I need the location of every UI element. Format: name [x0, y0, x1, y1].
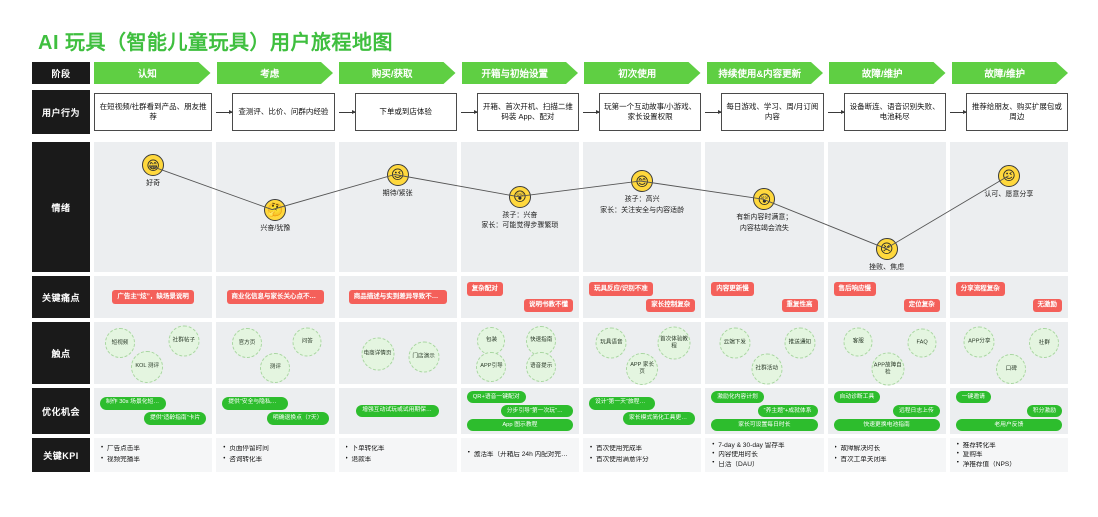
behavior-cell: 开箱、首次开机、扫描二维码装 App、配对: [461, 90, 579, 134]
kpi-item-4-1: 首次使用满意评分: [590, 456, 694, 465]
emotion-face-icon-2[interactable]: 😉: [387, 164, 409, 186]
stage-cell: 开箱与初始设置: [462, 62, 579, 84]
kpi-item-5-2: 日活（DAU）: [712, 461, 816, 468]
behavior-arrow-icon: [828, 112, 844, 113]
behavior-cell: 每日游戏、学习、周/月订阅内容: [705, 90, 823, 134]
kpi-item-1-0: 页面停留时间: [223, 445, 327, 454]
opportunity-pill-2-0[interactable]: 增强互动试玩或试用期保证退: [356, 405, 439, 418]
opportunity-pill-1-0[interactable]: 提供“安全与隐私说明”: [222, 397, 288, 410]
behavior-arrow-icon: [216, 112, 232, 113]
kpi-item-1-1: 咨询转化率: [223, 456, 327, 465]
behavior-row: 用户行为 在短视频/社群看到产品、朋友推荐查测评、比价、问群内经验下单或到店体验…: [32, 90, 1068, 134]
kpi-cell: 广告点击率视频完播率: [94, 438, 212, 472]
touchpoint-bubble-6-0[interactable]: 客服: [844, 327, 873, 356]
pain-chip-6-1[interactable]: 定位复杂: [904, 299, 940, 313]
opportunity-pill-5-1[interactable]: “养主题”+成就体系: [758, 405, 818, 417]
opportunity-pill-6-1[interactable]: 远程日志上传: [893, 405, 940, 417]
kpi-item-2-1: 退款率: [346, 456, 450, 465]
pain-cell: 玩具反应/识别不准家长控制复杂: [583, 276, 701, 318]
touchpoint-bubble-0-1[interactable]: KOL 测评: [131, 351, 163, 383]
pain-chip-5-1[interactable]: 重复性高: [782, 299, 818, 313]
touchpoint-row: 触点 短视频KOL 测评社群帖子官方页测评问答电商详情页门店演示包装快速指南AP…: [32, 322, 1068, 384]
behavior-box-3[interactable]: 开箱、首次开机、扫描二维码装 App、配对: [477, 93, 579, 131]
touchpoint-cell: APP分享口碑社群: [950, 322, 1068, 384]
pain-chip-5-0[interactable]: 内容更新慢: [711, 282, 754, 296]
emotion-label-7: 认可、愿意分享: [984, 190, 1033, 201]
kpi-item-5-1: 内容使用时长: [712, 451, 816, 458]
behavior-box-2[interactable]: 下单或到店体验: [355, 93, 457, 131]
touchpoint-bubble-7-0[interactable]: APP分享: [964, 326, 995, 357]
opportunity-pill-4-1[interactable]: 家长模式简化工具更易懂: [623, 412, 695, 425]
emotion-label-2: 期待/紧张: [383, 189, 413, 200]
page-title: AI 玩具（智能儿童玩具）用户旅程地图: [38, 26, 393, 55]
opportunity-cell: 自动诊断工具远程日志上传快速更换电池指南: [828, 388, 946, 434]
stage-chevron-0[interactable]: 认知: [94, 62, 211, 84]
emotion-cell: 😣挫败、焦虑: [828, 142, 946, 272]
behavior-box-4[interactable]: 玩第一个互动故事/小游戏、家长设置权限: [599, 93, 701, 131]
row-label-opportunity: 优化机会: [32, 388, 90, 434]
touchpoint-bubble-5-1[interactable]: 社群活动: [751, 354, 782, 385]
emotion-face-icon-3[interactable]: 😲: [509, 186, 531, 208]
emotion-label-0: 好奇: [146, 179, 160, 190]
touchpoint-cell: 云端下发社群活动推送通知: [705, 322, 823, 384]
row-label-stage: 阶段: [32, 62, 90, 84]
touchpoint-bubble-0-2[interactable]: 社群帖子: [168, 325, 199, 356]
touchpoint-bubble-0-0[interactable]: 短视频: [105, 328, 135, 358]
kpi-cell: 页面停留时间咨询转化率: [216, 438, 334, 472]
pain-chip-7-0[interactable]: 分享流程复杂: [956, 282, 1005, 296]
opportunity-cell: 制作 30s 场景化短视频（父母+孩子真实互动）提供“适龄指南”卡片: [94, 388, 212, 434]
stage-chevron-1[interactable]: 考虑: [217, 62, 334, 84]
kpi-cell: 推荐转化率复购率净推荐值（NPS）: [950, 438, 1068, 472]
behavior-cell: 查测评、比价、问群内经验: [216, 90, 334, 134]
stage-chevron-6[interactable]: 故障/维护: [829, 62, 946, 84]
touchpoint-bubble-5-2[interactable]: 推送通知: [784, 328, 815, 359]
behavior-box-5[interactable]: 每日游戏、学习、周/月订阅内容: [721, 93, 823, 131]
touchpoint-cells: 短视频KOL 测评社群帖子官方页测评问答电商详情页门店演示包装快速指南APP引导…: [90, 322, 1068, 384]
stage-cell: 故障/维护: [829, 62, 946, 84]
pain-cell: 分享流程复杂无激励: [950, 276, 1068, 318]
emotion-cell: 😊孩子：高兴家长：关注安全与内容适龄: [583, 142, 701, 272]
kpi-item-0-1: 视频完播率: [101, 456, 205, 465]
kpi-cell: 激活率（开箱后 24h 内配对完成比例）: [461, 438, 579, 472]
emotion-cell: 😁好奇: [94, 142, 212, 272]
opportunity-pill-7-2[interactable]: 老用户反馈: [956, 419, 1062, 431]
row-label-kpi: 关键KPI: [32, 438, 90, 472]
stage-cell: 持续使用&内容更新: [707, 62, 824, 84]
kpi-item-6-1: 首次工单关闭率: [835, 456, 939, 465]
row-label-emotion: 情绪: [32, 142, 90, 272]
opportunity-row: 优化机会 制作 30s 场景化短视频（父母+孩子真实互动）提供“适龄指南”卡片提…: [32, 388, 1068, 434]
kpi-row: 关键KPI 广告点击率视频完播率页面停留时间咨询转化率下单转化率退款率激活率（开…: [32, 438, 1068, 472]
pain-chip-6-0[interactable]: 售后响应慢: [834, 282, 877, 296]
emotion-label-1: 兴奋/犹豫: [260, 224, 290, 235]
touchpoint-bubble-4-2[interactable]: 首次体验教程: [658, 327, 691, 360]
touchpoint-bubble-7-2[interactable]: 社群: [1029, 328, 1059, 358]
behavior-arrow-icon: [339, 112, 355, 113]
emotion-label-5: 有新内容时满意；内容枯竭会流失: [736, 213, 792, 234]
opportunity-cell: 提供“安全与隐私说明”明确退换点（7天）: [216, 388, 334, 434]
opportunity-cell: 一键邀请积分激励老用户反馈: [950, 388, 1068, 434]
pain-row: 关键痛点 广告主“炫”，缺场景说明商业化信息与家长关心点不匹配商品描述与实到差异…: [32, 276, 1068, 318]
behavior-box-0[interactable]: 在短视频/社群看到产品、朋友推荐: [94, 93, 212, 131]
row-label-pain: 关键痛点: [32, 276, 90, 318]
emotion-cell: 😲有新内容时满意；内容枯竭会流失: [705, 142, 823, 272]
pain-chip-3-1[interactable]: 说明书教不懂: [524, 299, 573, 313]
pain-cell: 内容更新慢重复性高: [705, 276, 823, 318]
opportunity-pill-6-0[interactable]: 自动诊断工具: [834, 391, 881, 403]
opportunity-cells: 制作 30s 场景化短视频（父母+孩子真实互动）提供“适龄指南”卡片提供“安全与…: [90, 388, 1068, 434]
kpi-cell: 下单转化率退款率: [339, 438, 457, 472]
opportunity-cell: 增强互动试玩或试用期保证退: [339, 388, 457, 434]
opportunity-pill-0-1[interactable]: 提供“适龄指南”卡片: [144, 412, 206, 425]
touchpoint-cell: 短视频KOL 测评社群帖子: [94, 322, 212, 384]
pain-chip-3-0[interactable]: 复杂配对: [467, 282, 503, 296]
behavior-arrow-icon: [583, 112, 599, 113]
emotion-face-icon-4[interactable]: 😊: [631, 170, 653, 192]
opportunity-cell: 激励化内容计划“养主题”+成就体系家长可设置每日时长: [705, 388, 823, 434]
stage-cells: 认知考虑购买/获取开箱与初始设置初次使用持续使用&内容更新故障/维护故障/维护: [90, 62, 1068, 84]
behavior-cell: 下单或到店体验: [339, 90, 457, 134]
emotion-face-icon-5[interactable]: 😲: [753, 188, 775, 210]
touchpoint-bubble-1-2[interactable]: 问答: [293, 327, 322, 356]
touchpoint-bubble-4-1[interactable]: APP 家长页: [626, 353, 658, 385]
row-label-behavior: 用户行为: [32, 90, 90, 134]
pain-cell: 广告主“炫”，缺场景说明: [94, 276, 212, 318]
touchpoint-bubble-3-3[interactable]: 语音提示: [526, 352, 556, 382]
opportunity-pill-3-0[interactable]: QR+语音一键配对: [467, 391, 526, 403]
kpi-cell: 首次使用完成率首次使用满意评分: [583, 438, 701, 472]
touchpoint-bubble-3-2[interactable]: APP引导: [476, 352, 506, 382]
kpi-item-7-2: 净推荐值（NPS）: [957, 461, 1061, 468]
touchpoint-bubble-6-2[interactable]: FAQ: [908, 329, 937, 358]
touchpoint-bubble-6-1[interactable]: APP故障自检: [871, 353, 904, 386]
touchpoint-bubble-2-0[interactable]: 电商详情页: [361, 338, 394, 371]
behavior-cell: 设备断连、语音识别失败、电池耗尽: [828, 90, 946, 134]
emotion-face-icon-7[interactable]: 😉: [998, 165, 1020, 187]
emotion-cells: 😁好奇🤔兴奋/犹豫😉期待/紧张😲孩子：兴奋家长：可能觉得步骤繁琐😊孩子：高兴家长…: [90, 142, 1068, 272]
opportunity-pill-1-1[interactable]: 明确退换点（7天）: [267, 412, 329, 425]
emotion-face-icon-6[interactable]: 😣: [876, 238, 898, 260]
behavior-cell: 推荐给朋友、购买扩展包或周边: [950, 90, 1068, 134]
behavior-cell: 在短视频/社群看到产品、朋友推荐: [94, 90, 212, 134]
kpi-item-4-0: 首次使用完成率: [590, 445, 694, 454]
behavior-cells: 在短视频/社群看到产品、朋友推荐查测评、比价、问群内经验下单或到店体验开箱、首次…: [90, 90, 1068, 134]
opportunity-pill-3-2[interactable]: App 图示教程: [467, 419, 573, 431]
journey-grid: 阶段 认知考虑购买/获取开箱与初始设置初次使用持续使用&内容更新故障/维护故障/…: [32, 62, 1068, 476]
stage-chevron-5[interactable]: 持续使用&内容更新: [707, 62, 824, 84]
opportunity-pill-5-2[interactable]: 家长可设置每日时长: [711, 419, 817, 431]
pain-cell: 商业化信息与家长关心点不匹配: [216, 276, 334, 318]
opportunity-pill-0-0[interactable]: 制作 30s 场景化短视频（父母+孩子真实互动）: [100, 397, 166, 410]
touchpoint-bubble-7-1[interactable]: 口碑: [996, 354, 1026, 384]
journey-map-page: AI 玩具（智能儿童玩具）用户旅程地图 阶段 认知考虑购买/获取开箱与初始设置初…: [0, 0, 1098, 517]
stage-cell: 考虑: [217, 62, 334, 84]
emotion-cell: 😉认可、愿意分享: [950, 142, 1068, 272]
behavior-cell: 玩第一个互动故事/小游戏、家长设置权限: [583, 90, 701, 134]
touchpoint-bubble-3-0[interactable]: 包装: [477, 327, 505, 355]
stage-cell: 认知: [94, 62, 211, 84]
stage-chevron-4[interactable]: 初次使用: [584, 62, 701, 84]
emotion-label-4: 孩子：高兴家长：关注安全与内容适龄: [600, 195, 684, 216]
pain-cell: 售后响应慢定位复杂: [828, 276, 946, 318]
kpi-cell: 7-day & 30-day 留存率内容使用时长日活（DAU）: [705, 438, 823, 472]
opportunity-cell: QR+语音一键配对分步引导“第一次玩”流程App 图示教程: [461, 388, 579, 434]
touchpoint-bubble-1-0[interactable]: 官方页: [232, 328, 262, 358]
stage-chevron-2[interactable]: 购买/获取: [339, 62, 456, 84]
touchpoint-cell: 官方页测评问答: [216, 322, 334, 384]
opportunity-pill-7-1[interactable]: 积分激励: [1027, 405, 1062, 417]
opportunity-pill-4-0[interactable]: 设计“第一天”旅程：玩、学习、成长单: [589, 397, 655, 410]
touchpoint-cell: 包装快速指南APP引导语音提示: [461, 322, 579, 384]
pain-chip-0-0[interactable]: 广告主“炫”，缺场景说明: [112, 290, 194, 304]
behavior-box-6[interactable]: 设备断连、语音识别失败、电池耗尽: [844, 93, 946, 131]
kpi-item-7-0: 推荐转化率: [957, 442, 1061, 449]
kpi-item-2-0: 下单转化率: [346, 445, 450, 454]
emotion-face-icon-0[interactable]: 😁: [142, 154, 164, 176]
kpi-cells: 广告点击率视频完播率页面停留时间咨询转化率下单转化率退款率激活率（开箱后 24h…: [90, 438, 1068, 472]
kpi-cell: 故障解决时长首次工单关闭率: [828, 438, 946, 472]
emotion-cell: 😉期待/紧张: [339, 142, 457, 272]
behavior-box-7[interactable]: 推荐给朋友、购买扩展包或周边: [966, 93, 1068, 131]
behavior-arrow-icon: [705, 112, 721, 113]
opportunity-cell: 设计“第一天”旅程：玩、学习、成长单家长模式简化工具更易懂: [583, 388, 701, 434]
pain-chip-4-0[interactable]: 玩具反应/识别不准: [589, 282, 653, 296]
touchpoint-bubble-4-0[interactable]: 玩具语音: [596, 328, 627, 359]
emotion-cell: 🤔兴奋/犹豫: [216, 142, 334, 272]
touchpoint-cell: 玩具语音APP 家长页首次体验教程: [583, 322, 701, 384]
emotion-face-icon-1[interactable]: 🤔: [264, 199, 286, 221]
row-label-touchpoint: 触点: [32, 322, 90, 384]
pain-chip-1-0[interactable]: 商业化信息与家长关心点不匹配: [227, 290, 325, 304]
stage-cell: 故障/维护: [952, 62, 1069, 84]
pain-chip-7-1[interactable]: 无激励: [1033, 299, 1063, 313]
stage-chevron-3[interactable]: 开箱与初始设置: [462, 62, 579, 84]
stage-cell: 购买/获取: [339, 62, 456, 84]
behavior-box-1[interactable]: 查测评、比价、问群内经验: [232, 93, 334, 131]
behavior-arrow-icon: [950, 112, 966, 113]
touchpoint-bubble-1-1[interactable]: 测评: [260, 353, 290, 383]
stage-row: 阶段 认知考虑购买/获取开箱与初始设置初次使用持续使用&内容更新故障/维护故障/…: [32, 62, 1068, 84]
pain-cell: 复杂配对说明书教不懂: [461, 276, 579, 318]
stage-cell: 初次使用: [584, 62, 701, 84]
opportunity-pill-3-1[interactable]: 分步引导“第一次玩”流程: [501, 405, 573, 417]
kpi-item-6-0: 故障解决时长: [835, 445, 939, 454]
touchpoint-cell: 客服APP故障自检FAQ: [828, 322, 946, 384]
emotion-cell: 😲孩子：兴奋家长：可能觉得步骤繁琐: [461, 142, 579, 272]
pain-chip-2-0[interactable]: 商品描述与实到差异导致不确定: [349, 290, 447, 304]
touchpoint-bubble-2-1[interactable]: 门店演示: [408, 341, 439, 372]
touchpoint-cell: 电商详情页门店演示: [339, 322, 457, 384]
opportunity-pill-5-0[interactable]: 激励化内容计划: [711, 391, 764, 403]
emotion-label-3: 孩子：兴奋家长：可能觉得步骤繁琐: [481, 211, 558, 232]
kpi-item-0-0: 广告点击率: [101, 445, 205, 454]
pain-cells: 广告主“炫”，缺场景说明商业化信息与家长关心点不匹配商品描述与实到差异导致不确定…: [90, 276, 1068, 318]
pain-chip-4-1[interactable]: 家长控制复杂: [646, 299, 695, 313]
stage-chevron-7[interactable]: 故障/维护: [952, 62, 1069, 84]
emotion-label-6: 挫败、焦虑: [869, 263, 904, 272]
touchpoint-bubble-5-0[interactable]: 云端下发: [719, 328, 750, 359]
behavior-arrow-icon: [461, 112, 477, 113]
emotion-row: 情绪 😁好奇🤔兴奋/犹豫😉期待/紧张😲孩子：兴奋家长：可能觉得步骤繁琐😊孩子：高…: [32, 142, 1068, 272]
pain-cell: 商品描述与实到差异导致不确定: [339, 276, 457, 318]
opportunity-pill-6-2[interactable]: 快速更换电池指南: [834, 419, 940, 431]
kpi-item-7-1: 复购率: [957, 451, 1061, 458]
kpi-item-3-0: 激活率（开箱后 24h 内配对完成比例）: [468, 451, 572, 460]
kpi-item-5-0: 7-day & 30-day 留存率: [712, 442, 816, 449]
opportunity-pill-7-0[interactable]: 一键邀请: [956, 391, 991, 403]
